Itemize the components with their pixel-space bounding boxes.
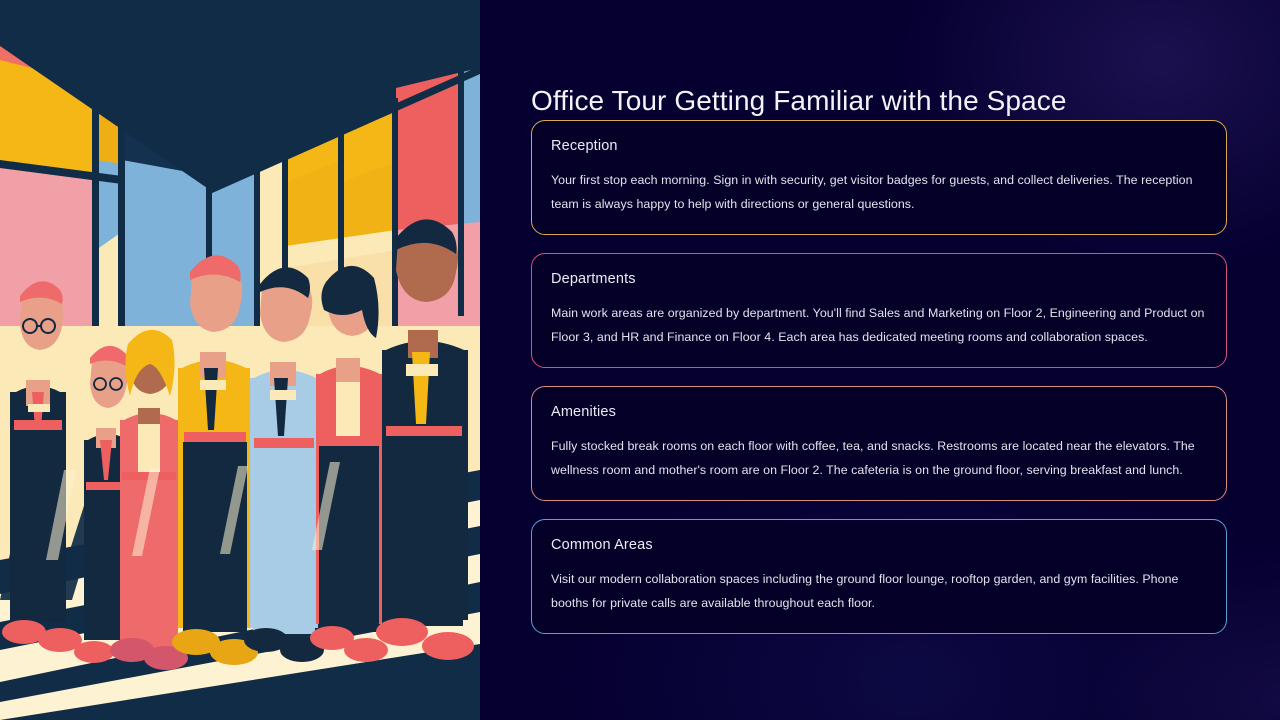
card-body: Main work areas are organized by departm… bbox=[551, 301, 1207, 349]
card-body: Your first stop each morning. Sign in wi… bbox=[551, 168, 1207, 216]
card-title: Reception bbox=[551, 138, 1207, 154]
info-card-reception[interactable]: Reception Your first stop each morning. … bbox=[531, 120, 1227, 235]
page-title: Office Tour Getting Familiar with the Sp… bbox=[531, 85, 1067, 117]
info-card-common-areas[interactable]: Common Areas Visit our modern collaborat… bbox=[531, 519, 1227, 634]
office-lobby-team-illustration bbox=[0, 0, 480, 720]
card-body: Visit our modern collaboration spaces in… bbox=[551, 567, 1207, 615]
card-title: Common Areas bbox=[551, 537, 1207, 553]
info-card-departments[interactable]: Departments Main work areas are organize… bbox=[531, 253, 1227, 368]
illustration-svg bbox=[0, 0, 480, 720]
card-body: Fully stocked break rooms on each floor … bbox=[551, 434, 1207, 482]
info-card-amenities[interactable]: Amenities Fully stocked break rooms on e… bbox=[531, 386, 1227, 501]
slide-root: Office Tour Getting Familiar with the Sp… bbox=[0, 0, 1280, 720]
card-title: Amenities bbox=[551, 404, 1207, 420]
info-card-list: Reception Your first stop each morning. … bbox=[531, 120, 1227, 652]
content-panel: Office Tour Getting Familiar with the Sp… bbox=[480, 0, 1280, 720]
card-title: Departments bbox=[551, 271, 1207, 287]
